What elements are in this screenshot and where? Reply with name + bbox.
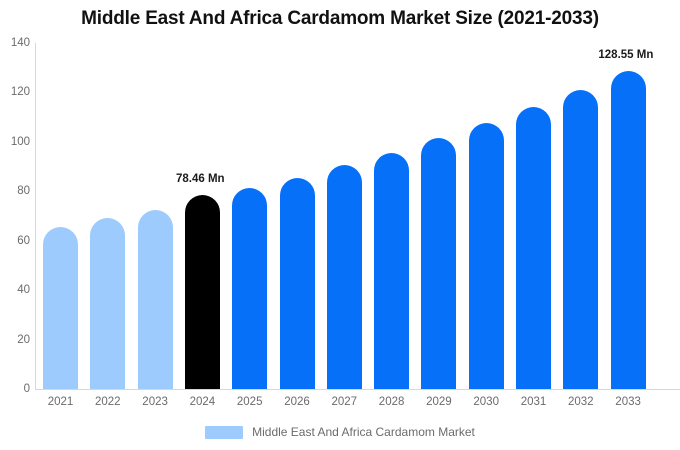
y-axis-tick-label: 40 xyxy=(0,284,30,296)
y-axis-tick-label: 80 xyxy=(0,185,30,197)
bar-value-label: 128.55 Mn xyxy=(598,49,653,61)
bar-2030[interactable] xyxy=(469,123,504,389)
bar-group xyxy=(43,43,78,389)
bar-value-label: 78.46 Mn xyxy=(176,173,225,185)
y-axis-tick-label: 120 xyxy=(0,86,30,98)
x-axis-tick-label: 2033 xyxy=(598,396,658,408)
bar-2031[interactable] xyxy=(516,107,551,389)
bar-2033[interactable] xyxy=(611,71,646,389)
bar-group xyxy=(90,43,125,389)
bar-2032[interactable] xyxy=(563,90,598,389)
y-axis-tick-label: 20 xyxy=(0,334,30,346)
bar-group xyxy=(421,43,456,389)
y-axis-tick-label: 140 xyxy=(0,37,30,49)
y-axis-ticks: 020406080100120140 xyxy=(0,0,30,450)
bar-group xyxy=(185,43,220,389)
x-axis-line xyxy=(35,389,680,390)
bar-2023[interactable] xyxy=(138,210,173,389)
bar-chart: Middle East And Africa Cardamom Market S… xyxy=(0,0,680,450)
bar-2027[interactable] xyxy=(327,165,362,389)
bar-group xyxy=(611,43,646,389)
legend-swatch-icon xyxy=(205,426,243,439)
bar-group xyxy=(374,43,409,389)
bar-2022[interactable] xyxy=(90,218,125,389)
bar-group xyxy=(138,43,173,389)
legend-label: Middle East And Africa Cardamom Market xyxy=(252,425,475,439)
bar-group xyxy=(280,43,315,389)
bar-group xyxy=(469,43,504,389)
y-axis-tick-label: 100 xyxy=(0,136,30,148)
bar-2028[interactable] xyxy=(374,153,409,389)
bar-group xyxy=(232,43,267,389)
bar-group xyxy=(563,43,598,389)
bar-2029[interactable] xyxy=(421,138,456,389)
bar-2026[interactable] xyxy=(280,178,315,389)
chart-legend: Middle East And Africa Cardamom Market xyxy=(0,425,680,439)
plot-area xyxy=(36,43,680,389)
chart-title: Middle East And Africa Cardamom Market S… xyxy=(0,8,680,30)
y-axis-tick-label: 0 xyxy=(0,383,30,395)
y-axis-tick-label: 60 xyxy=(0,235,30,247)
bar-group xyxy=(516,43,551,389)
bar-2021[interactable] xyxy=(43,227,78,389)
bar-2025[interactable] xyxy=(232,188,267,389)
bar-2024[interactable] xyxy=(185,195,220,389)
bar-group xyxy=(327,43,362,389)
